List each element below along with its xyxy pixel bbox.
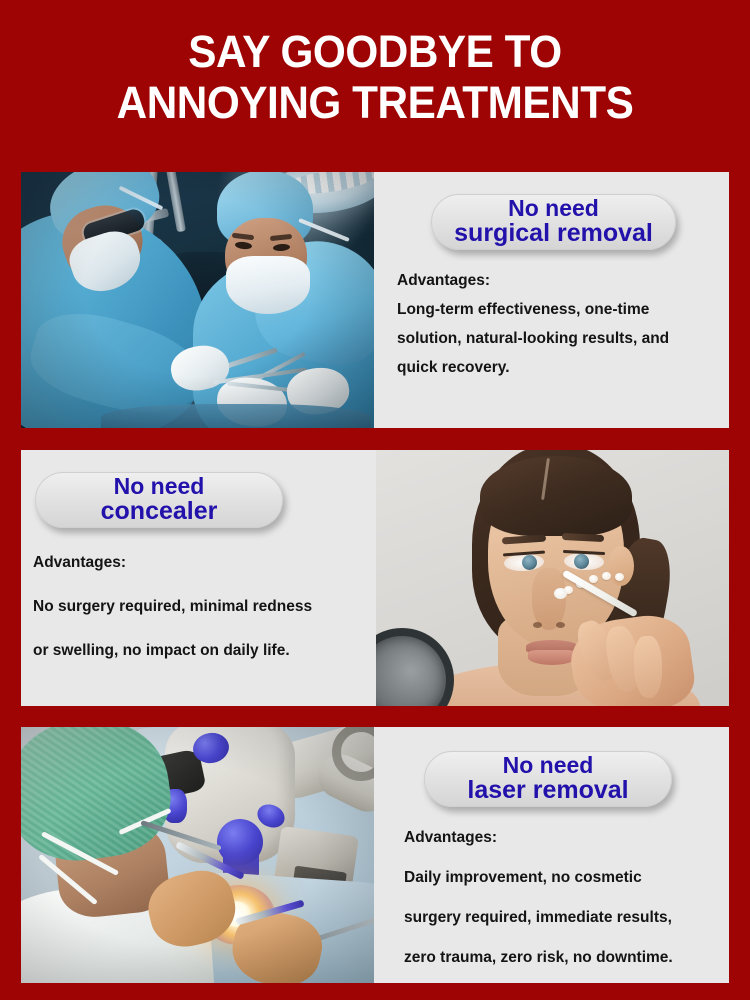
advantages-label: Advantages: — [33, 554, 312, 572]
advantages-label: Advantages: — [404, 829, 673, 847]
advantages-body-line: zero trauma, zero risk, no downtime. — [404, 949, 673, 967]
pill-line-2: surgical removal — [454, 221, 653, 247]
pill-line-2: concealer — [101, 499, 218, 525]
panel-no-laser-removal: No need laser removal Advantages: Daily … — [21, 727, 729, 983]
advantages-body-line: No surgery required, minimal redness — [33, 598, 312, 616]
photo-vignette — [21, 172, 374, 428]
panel-2-advantages-block: Advantages: No surgery required, minimal… — [33, 554, 312, 686]
mirror-edge — [376, 628, 454, 706]
headline-line-2: ANNOYING TREATMENTS — [39, 77, 710, 128]
panel-1-advantages-block: Advantages: Long-term effectiveness, one… — [397, 272, 669, 388]
panel-2-text-area: No need concealer Advantages: No surgery… — [21, 450, 376, 706]
operating-room-surgeons-photo — [21, 172, 374, 428]
woman-finger — [633, 636, 663, 699]
pill-line-1: No need — [508, 197, 599, 220]
advantages-body-line: Daily improvement, no cosmetic — [404, 869, 673, 887]
woman-nostril — [533, 622, 542, 628]
woman-hair-top — [480, 456, 632, 536]
panel-3-advantages-block: Advantages: Daily improvement, no cosmet… — [404, 829, 673, 983]
pill-line-1: No need — [114, 475, 205, 498]
headline-line-1: SAY GOODBYE TO — [39, 26, 710, 77]
advantages-body-line: solution, natural-looking results, and — [397, 330, 669, 348]
page-headline: SAY GOODBYE TO ANNOYING TREATMENTS — [23, 0, 728, 128]
panel-2-pill-badge: No need concealer — [35, 472, 283, 528]
concealer-dot — [589, 575, 598, 583]
advantages-label: Advantages: — [397, 272, 669, 290]
woman-iris — [574, 554, 589, 569]
woman-nose — [532, 568, 566, 630]
advantages-body-line: quick recovery. — [397, 359, 669, 377]
woman-iris — [522, 555, 537, 570]
photo-vignette — [21, 727, 374, 983]
advantages-body-line: Long-term effectiveness, one-time — [397, 301, 669, 319]
woman-applying-concealer-photo — [376, 450, 729, 706]
pill-line-1: No need — [503, 754, 594, 777]
woman-nostril — [556, 622, 565, 628]
panel-no-concealer: No need concealer Advantages: No surgery… — [21, 450, 729, 706]
advantages-body-line: surgery required, immediate results, — [404, 909, 673, 927]
concealer-dot — [615, 573, 624, 581]
concealer-wand-tip — [554, 588, 567, 599]
microsurgery-microscope-photo — [21, 727, 374, 983]
panel-no-surgical-removal: No need surgical removal Advantages: Lon… — [21, 172, 729, 428]
advantages-body-line: or swelling, no impact on daily life. — [33, 642, 312, 660]
panel-3-pill-badge: No need laser removal — [424, 751, 672, 807]
pill-line-2: laser removal — [467, 778, 628, 804]
concealer-dot — [602, 572, 611, 580]
panel-1-text-area: No need surgical removal Advantages: Lon… — [374, 172, 729, 428]
woman-lower-lip — [528, 650, 576, 665]
panel-1-pill-badge: No need surgical removal — [431, 194, 676, 250]
panel-3-text-area: No need laser removal Advantages: Daily … — [374, 727, 729, 983]
